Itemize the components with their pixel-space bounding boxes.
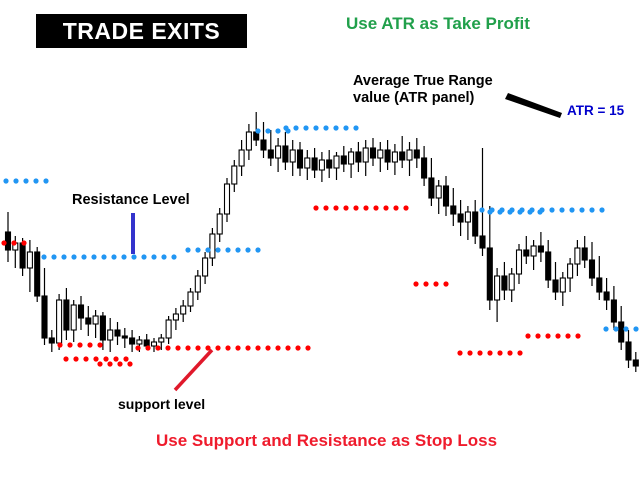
resistance-level-dot xyxy=(479,207,484,212)
candle-body xyxy=(553,280,558,292)
support-level-dot xyxy=(457,350,462,355)
candle-body xyxy=(407,150,412,160)
candle-body xyxy=(144,340,149,346)
resistance-level-dot xyxy=(579,207,584,212)
take-profit-heading: Use ATR as Take Profit xyxy=(346,14,530,34)
resistance-level-dot xyxy=(91,254,96,259)
support-level-dot xyxy=(127,361,132,366)
candle-body xyxy=(57,300,62,343)
candle-body xyxy=(35,252,40,296)
support-level-dot xyxy=(333,205,338,210)
resistance-level-dot xyxy=(623,326,628,331)
candle-body xyxy=(319,160,324,170)
atr-value-label: ATR = 15 xyxy=(567,103,624,119)
support-level-dot xyxy=(175,345,180,350)
candle-body xyxy=(400,152,405,160)
candle-body xyxy=(480,236,485,248)
support-level-dot xyxy=(295,345,300,350)
trading-chart-infographic: TRADE EXITS Use ATR as Take Profit Avera… xyxy=(0,0,640,480)
candle-body xyxy=(604,292,609,300)
resistance-level-dot xyxy=(333,125,338,130)
resistance-level-dot xyxy=(549,207,554,212)
candle-body xyxy=(86,318,91,324)
resistance-level-dot xyxy=(101,254,106,259)
support-level-dot xyxy=(57,342,62,347)
support-level-dot xyxy=(265,345,270,350)
support-level-dot xyxy=(443,281,448,286)
title-badge: TRADE EXITS xyxy=(36,14,247,48)
candle-body xyxy=(590,260,595,278)
support-level-dot xyxy=(123,356,128,361)
support-level-dot xyxy=(245,345,250,350)
candle-body xyxy=(451,206,456,214)
candle-body xyxy=(20,243,25,268)
support-level-dot xyxy=(165,345,170,350)
support-level-dot xyxy=(305,345,310,350)
candle-body xyxy=(108,330,113,340)
resistance-level-dot xyxy=(255,247,260,252)
resistance-level-dot xyxy=(81,254,86,259)
candle-body xyxy=(100,316,105,340)
candle-body xyxy=(49,338,54,343)
candle-body xyxy=(290,150,295,162)
support-level-dot xyxy=(535,333,540,338)
support-level-dot xyxy=(565,333,570,338)
candle-body xyxy=(152,342,157,346)
candle-body xyxy=(626,342,631,360)
resistance-level-dot xyxy=(529,207,534,212)
candle-body xyxy=(246,132,251,150)
candle-body xyxy=(276,146,281,158)
candle-body xyxy=(283,146,288,162)
resistance-level-label: Resistance Level xyxy=(72,192,190,209)
candle-body xyxy=(356,152,361,162)
support-level-dot xyxy=(423,281,428,286)
atr-arrow-icon xyxy=(505,93,562,118)
support-level-lines xyxy=(1,205,580,366)
resistance-level-dot xyxy=(43,178,48,183)
candle-body xyxy=(334,156,339,168)
resistance-level-dot xyxy=(255,128,260,133)
candle-body xyxy=(93,316,98,324)
candle-body xyxy=(27,252,32,268)
resistance-level-dot xyxy=(3,178,8,183)
support-level-dot xyxy=(21,240,26,245)
resistance-level-dot xyxy=(245,247,250,252)
atr-panel-note: Average True Range value (ATR panel) xyxy=(353,73,493,107)
candle-body xyxy=(232,166,237,184)
resistance-level-dot xyxy=(539,207,544,212)
support-level-dot xyxy=(135,345,140,350)
support-level-dot xyxy=(117,361,122,366)
candle-body xyxy=(210,234,215,258)
candle-body xyxy=(619,322,624,342)
candle-body xyxy=(305,158,310,168)
resistance-level-dot xyxy=(131,254,136,259)
candle-body xyxy=(582,248,587,260)
resistance-level-dot xyxy=(235,247,240,252)
resistance-level-dot xyxy=(185,247,190,252)
support-level-dot xyxy=(255,345,260,350)
resistance-level-dot xyxy=(275,128,280,133)
candle-body xyxy=(509,274,514,290)
resistance-level-dot xyxy=(603,326,608,331)
support-level-dot xyxy=(185,345,190,350)
resistance-level-dot xyxy=(589,207,594,212)
resistance-level-dot xyxy=(51,254,56,259)
resistance-level-dot xyxy=(41,254,46,259)
support-level-dot xyxy=(575,333,580,338)
candle-body xyxy=(64,300,69,330)
support-level-dot xyxy=(113,356,118,361)
resistance-level-dot xyxy=(283,125,288,130)
support-level-dot xyxy=(225,345,230,350)
candle-body xyxy=(137,340,142,344)
candle-body xyxy=(181,306,186,314)
support-level-dot xyxy=(67,342,72,347)
candle-body xyxy=(546,252,551,280)
support-level-dot xyxy=(103,356,108,361)
candlestick-series xyxy=(6,112,640,372)
candle-body xyxy=(422,158,427,178)
resistance-level-dot xyxy=(13,178,18,183)
support-level-dot xyxy=(313,205,318,210)
candle-body xyxy=(611,300,616,322)
support-level-dot xyxy=(545,333,550,338)
candle-body xyxy=(568,264,573,278)
candle-body xyxy=(312,158,317,170)
support-level-dot xyxy=(285,345,290,350)
support-level-dot xyxy=(517,350,522,355)
candle-body xyxy=(597,278,602,292)
candle-body xyxy=(473,212,478,236)
candle-body xyxy=(414,150,419,158)
candle-body xyxy=(6,232,11,250)
support-level-dot xyxy=(525,333,530,338)
support-level-dot xyxy=(373,205,378,210)
candle-body xyxy=(42,296,47,338)
candle-body xyxy=(575,248,580,264)
support-level-dot xyxy=(477,350,482,355)
candle-body xyxy=(79,305,84,318)
candle-body xyxy=(487,248,492,300)
resistance-level-dot xyxy=(343,125,348,130)
support-level-dot xyxy=(97,361,102,366)
candle-body xyxy=(225,184,230,214)
support-level-dot xyxy=(87,342,92,347)
candle-body xyxy=(531,246,536,256)
support-level-dot xyxy=(343,205,348,210)
support-level-dot xyxy=(363,205,368,210)
resistance-level-dot xyxy=(111,254,116,259)
candle-body xyxy=(349,152,354,164)
support-level-dot xyxy=(433,281,438,286)
candle-body xyxy=(166,320,171,338)
resistance-level-dot xyxy=(303,125,308,130)
resistance-level-dot xyxy=(71,254,76,259)
resistance-level-dot xyxy=(499,207,504,212)
resistance-level-dot xyxy=(599,207,604,212)
candle-body xyxy=(130,338,135,344)
support-level-dot xyxy=(467,350,472,355)
support-level-dot xyxy=(403,205,408,210)
candle-body xyxy=(560,278,565,292)
candle-body xyxy=(261,140,266,150)
candle-body xyxy=(239,150,244,166)
support-level-dot xyxy=(97,342,102,347)
candle-body xyxy=(71,305,76,330)
support-level-dot xyxy=(507,350,512,355)
resistance-level-dot xyxy=(293,125,298,130)
candle-body xyxy=(327,160,332,168)
resistance-level-dot xyxy=(353,125,358,130)
candle-body xyxy=(436,186,441,198)
resistance-level-dot xyxy=(265,128,270,133)
support-level-dot xyxy=(83,356,88,361)
support-level-dot xyxy=(215,345,220,350)
support-level-dot xyxy=(353,205,358,210)
candle-body xyxy=(538,246,543,252)
resistance-level-dot xyxy=(559,207,564,212)
resistance-level-dot xyxy=(633,326,638,331)
resistance-level-dot xyxy=(215,247,220,252)
support-level-dot xyxy=(275,345,280,350)
resistance-level-dot xyxy=(613,326,618,331)
candle-body xyxy=(203,258,208,276)
resistance-level-dot xyxy=(151,254,156,259)
candle-body xyxy=(465,212,470,222)
candle-body xyxy=(458,214,463,222)
support-level-dot xyxy=(107,361,112,366)
candle-body xyxy=(392,152,397,162)
candle-body xyxy=(429,178,434,198)
support-level-dot xyxy=(487,350,492,355)
stop-loss-heading: Use Support and Resistance as Stop Loss xyxy=(156,431,497,451)
resistance-level-dot xyxy=(195,247,200,252)
candle-body xyxy=(122,336,127,338)
support-level-dot xyxy=(555,333,560,338)
resistance-level-dot xyxy=(509,207,514,212)
candle-body xyxy=(385,150,390,162)
support-level-dot xyxy=(383,205,388,210)
candle-body xyxy=(371,148,376,158)
support-level-dot xyxy=(1,240,6,245)
candle-body xyxy=(341,156,346,164)
support-level-dot xyxy=(497,350,502,355)
candlestick-chart xyxy=(0,0,640,480)
support-level-dot xyxy=(73,356,78,361)
resistance-level-dot xyxy=(141,254,146,259)
resistance-level-lines xyxy=(3,125,638,331)
resistance-level-dot xyxy=(519,207,524,212)
candle-body xyxy=(444,186,449,206)
support-level-dot xyxy=(413,281,418,286)
candle-body xyxy=(633,360,638,366)
candle-body xyxy=(298,150,303,168)
candle-body xyxy=(363,148,368,162)
resistance-level-dot xyxy=(569,207,574,212)
support-level-dot xyxy=(235,345,240,350)
candle-body xyxy=(115,330,120,336)
candle-body xyxy=(268,150,273,158)
page-title: TRADE EXITS xyxy=(63,18,221,45)
support-level-dot xyxy=(145,345,150,350)
resistance-level-dot xyxy=(23,178,28,183)
candle-body xyxy=(502,276,507,290)
resistance-level-dot xyxy=(33,178,38,183)
support-level-dot xyxy=(195,345,200,350)
support-level-dot xyxy=(11,240,16,245)
resistance-level-dot xyxy=(489,207,494,212)
candle-body xyxy=(159,338,164,342)
support-pointer-line xyxy=(175,350,212,390)
resistance-level-dot xyxy=(323,125,328,130)
support-level-dot xyxy=(63,356,68,361)
candle-body xyxy=(495,276,500,300)
resistance-level-dot xyxy=(61,254,66,259)
candle-body xyxy=(188,292,193,306)
resistance-level-dot xyxy=(313,125,318,130)
candle-body xyxy=(217,214,222,234)
support-level-dot xyxy=(155,345,160,350)
resistance-level-dot xyxy=(205,247,210,252)
candle-body xyxy=(378,150,383,158)
support-level-dot xyxy=(323,205,328,210)
support-level-label: support level xyxy=(118,396,205,413)
resistance-level-dot xyxy=(171,254,176,259)
candle-body xyxy=(517,250,522,274)
support-level-dot xyxy=(393,205,398,210)
candle-body xyxy=(195,276,200,292)
support-level-dot xyxy=(77,342,82,347)
candle-body xyxy=(524,250,529,256)
resistance-level-dot xyxy=(225,247,230,252)
resistance-level-dot xyxy=(121,254,126,259)
candle-body xyxy=(173,314,178,320)
support-level-dot xyxy=(93,356,98,361)
resistance-level-dot xyxy=(161,254,166,259)
